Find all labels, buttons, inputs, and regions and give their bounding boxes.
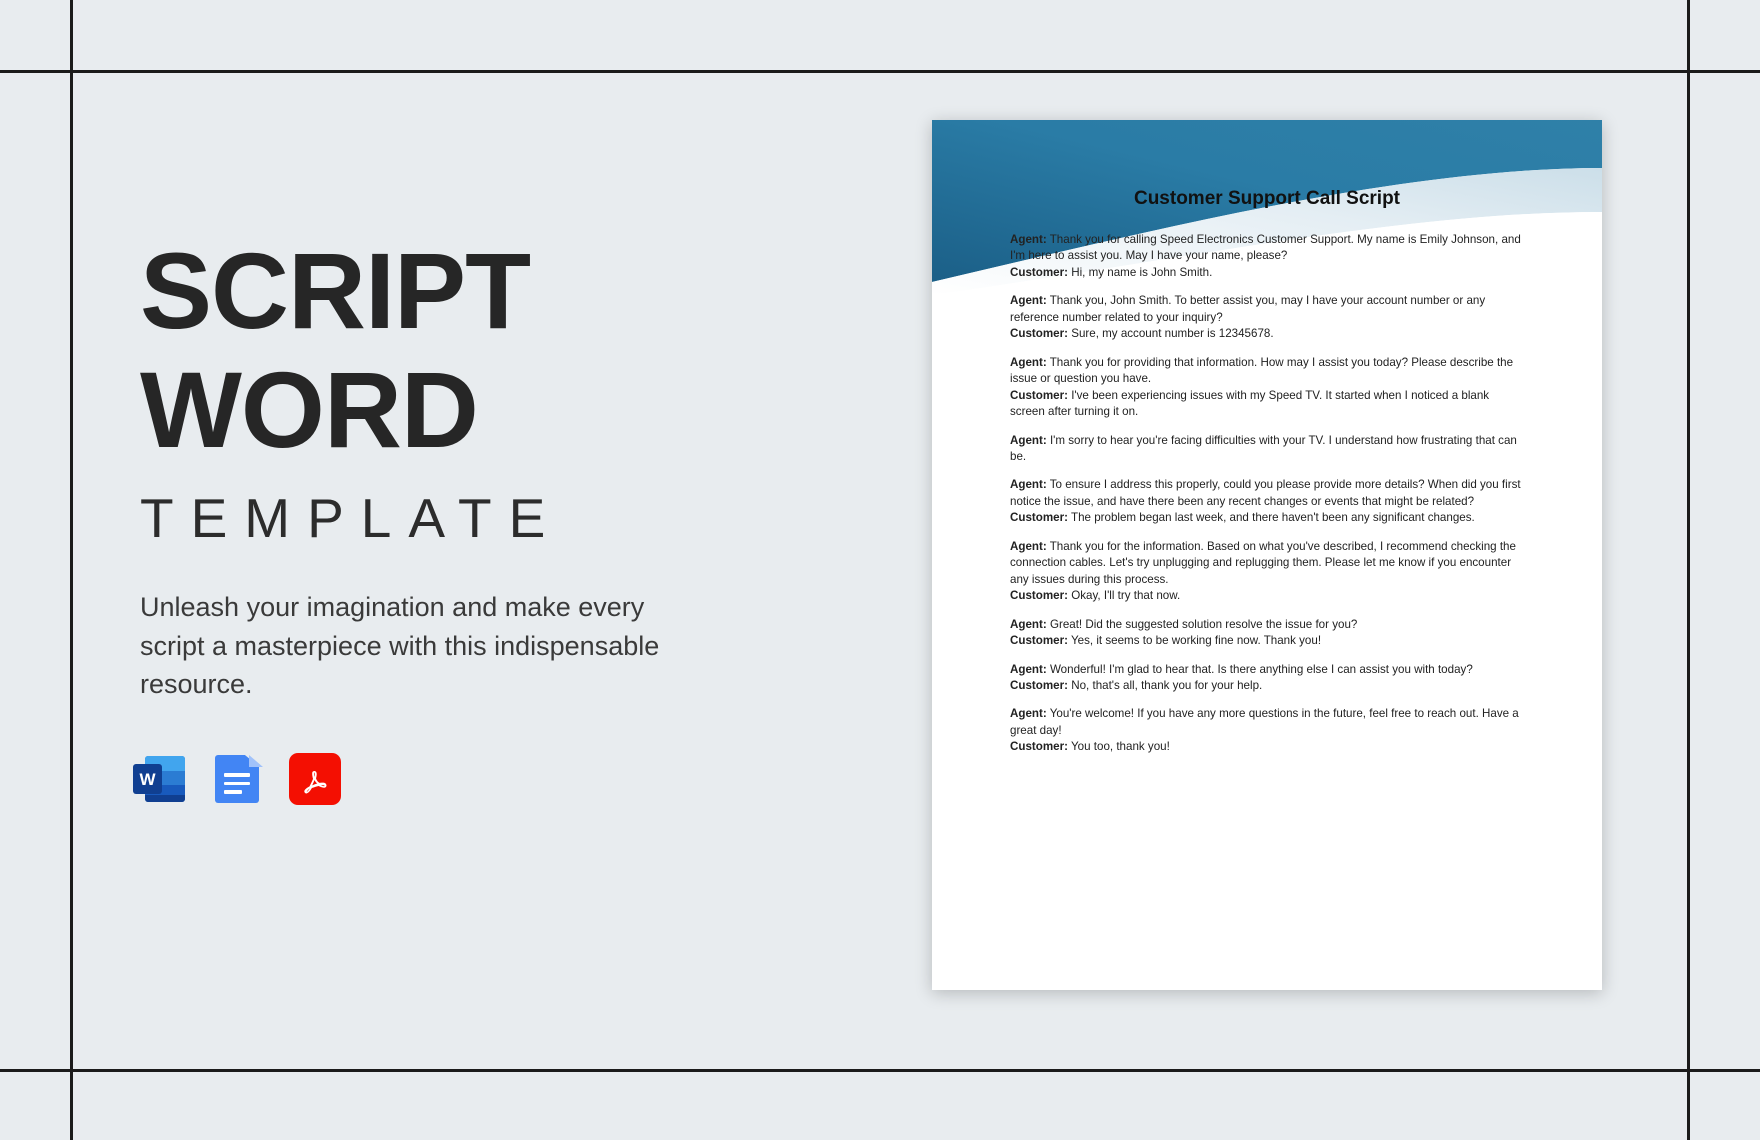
dialogue-block: Agent: To ensure I address this properly… <box>1010 477 1525 526</box>
document-preview[interactable]: Customer Support Call Script Agent: Than… <box>932 120 1602 990</box>
speaker-label-agent: Agent: <box>1010 707 1047 720</box>
google-docs-icon-fold <box>249 755 263 767</box>
dialogue-block: Agent: Thank you for providing that info… <box>1010 355 1525 421</box>
file-format-icons: W <box>133 753 341 805</box>
word-icon-letter: W <box>133 764 162 794</box>
dialogue-text-customer: You too, thank you! <box>1068 740 1170 753</box>
word-icon[interactable]: W <box>133 753 185 805</box>
page-title-line-1: SCRIPT <box>140 240 780 343</box>
document-body: Agent: Thank you for calling Speed Elect… <box>1010 232 1525 768</box>
pdf-icon[interactable] <box>289 753 341 805</box>
dialogue-text-agent: You're welcome! If you have any more que… <box>1010 707 1519 736</box>
dialogue-line-customer: Customer: Hi, my name is John Smith. <box>1010 265 1525 281</box>
dialogue-text-agent: I'm sorry to hear you're facing difficul… <box>1010 434 1517 463</box>
dialogue-block: Agent: Wonderful! I'm glad to hear that.… <box>1010 662 1525 695</box>
dialogue-text-agent: Thank you, John Smith. To better assist … <box>1010 294 1485 323</box>
dialogue-text-customer: Yes, it seems to be working fine now. Th… <box>1068 634 1321 647</box>
word-icon-band-4 <box>145 795 185 802</box>
dialogue-line-agent: Agent: Wonderful! I'm glad to hear that.… <box>1010 662 1525 678</box>
dialogue-line-customer: Customer: Yes, it seems to be working fi… <box>1010 633 1525 649</box>
dialogue-block: Agent: Thank you, John Smith. To better … <box>1010 293 1525 342</box>
dialogue-line-customer: Customer: Sure, my account number is 123… <box>1010 326 1525 342</box>
guide-line-vertical-left <box>70 0 73 1140</box>
dialogue-line-agent: Agent: Thank you for calling Speed Elect… <box>1010 232 1525 265</box>
dialogue-line-agent: Agent: Thank you for the information. Ba… <box>1010 539 1525 588</box>
dialogue-line-customer: Customer: You too, thank you! <box>1010 739 1525 755</box>
dialogue-block: Agent: You're welcome! If you have any m… <box>1010 706 1525 755</box>
speaker-label-agent: Agent: <box>1010 478 1047 491</box>
dialogue-text-agent: Wonderful! I'm glad to hear that. Is the… <box>1047 663 1473 676</box>
speaker-label-agent: Agent: <box>1010 618 1047 631</box>
dialogue-line-agent: Agent: Great! Did the suggested solution… <box>1010 617 1525 633</box>
speaker-label-agent: Agent: <box>1010 540 1047 553</box>
dialogue-line-agent: Agent: I'm sorry to hear you're facing d… <box>1010 433 1525 466</box>
speaker-label-customer: Customer: <box>1010 740 1068 753</box>
speaker-label-agent: Agent: <box>1010 294 1047 307</box>
speaker-label-customer: Customer: <box>1010 634 1068 647</box>
dialogue-text-agent: Great! Did the suggested solution resolv… <box>1047 618 1358 631</box>
dialogue-text-agent: To ensure I address this properly, could… <box>1010 478 1521 507</box>
dialogue-line-customer: Customer: I've been experiencing issues … <box>1010 388 1525 421</box>
google-docs-icon-lines <box>224 773 250 799</box>
dialogue-text-customer: Sure, my account number is 12345678. <box>1068 327 1274 340</box>
guide-line-horizontal-bottom <box>0 1069 1760 1072</box>
dialogue-block: Agent: Thank you for the information. Ba… <box>1010 539 1525 605</box>
speaker-label-customer: Customer: <box>1010 327 1068 340</box>
dialogue-text-agent: Thank you for the information. Based on … <box>1010 540 1516 586</box>
speaker-label-customer: Customer: <box>1010 266 1068 279</box>
dialogue-text-customer: Okay, I'll try that now. <box>1068 589 1180 602</box>
dialogue-text-agent: Thank you for providing that information… <box>1010 356 1513 385</box>
dialogue-block: Agent: I'm sorry to hear you're facing d… <box>1010 433 1525 466</box>
speaker-label-agent: Agent: <box>1010 434 1047 447</box>
page-description: Unleash your imagination and make every … <box>140 588 685 703</box>
speaker-label-agent: Agent: <box>1010 233 1047 246</box>
google-docs-icon[interactable] <box>211 753 263 805</box>
pdf-icon-glyph <box>298 762 332 796</box>
speaker-label-customer: Customer: <box>1010 589 1068 602</box>
dialogue-block: Agent: Thank you for calling Speed Elect… <box>1010 232 1525 281</box>
page-subtitle: TEMPLATE <box>140 491 780 546</box>
dialogue-line-customer: Customer: Okay, I'll try that now. <box>1010 588 1525 604</box>
speaker-label-agent: Agent: <box>1010 356 1047 369</box>
dialogue-text-customer: Hi, my name is John Smith. <box>1068 266 1212 279</box>
dialogue-text-agent: Thank you for calling Speed Electronics … <box>1010 233 1521 262</box>
left-content-column: SCRIPT WORD TEMPLATE Unleash your imagin… <box>140 240 780 703</box>
dialogue-text-customer: No, that's all, thank you for your help. <box>1068 679 1262 692</box>
dialogue-text-customer: The problem began last week, and there h… <box>1068 511 1475 524</box>
speaker-label-agent: Agent: <box>1010 663 1047 676</box>
guide-line-vertical-right <box>1687 0 1690 1140</box>
dialogue-line-agent: Agent: To ensure I address this properly… <box>1010 477 1525 510</box>
dialogue-line-agent: Agent: Thank you, John Smith. To better … <box>1010 293 1525 326</box>
dialogue-text-customer: I've been experiencing issues with my Sp… <box>1010 389 1489 418</box>
speaker-label-customer: Customer: <box>1010 679 1068 692</box>
dialogue-line-customer: Customer: No, that's all, thank you for … <box>1010 678 1525 694</box>
dialogue-line-agent: Agent: Thank you for providing that info… <box>1010 355 1525 388</box>
dialogue-block: Agent: Great! Did the suggested solution… <box>1010 617 1525 650</box>
dialogue-line-customer: Customer: The problem began last week, a… <box>1010 510 1525 526</box>
dialogue-line-agent: Agent: You're welcome! If you have any m… <box>1010 706 1525 739</box>
document-title: Customer Support Call Script <box>932 188 1602 210</box>
speaker-label-customer: Customer: <box>1010 389 1068 402</box>
speaker-label-customer: Customer: <box>1010 511 1068 524</box>
page-title-line-2: WORD <box>140 359 780 462</box>
guide-line-horizontal-top <box>0 70 1760 73</box>
